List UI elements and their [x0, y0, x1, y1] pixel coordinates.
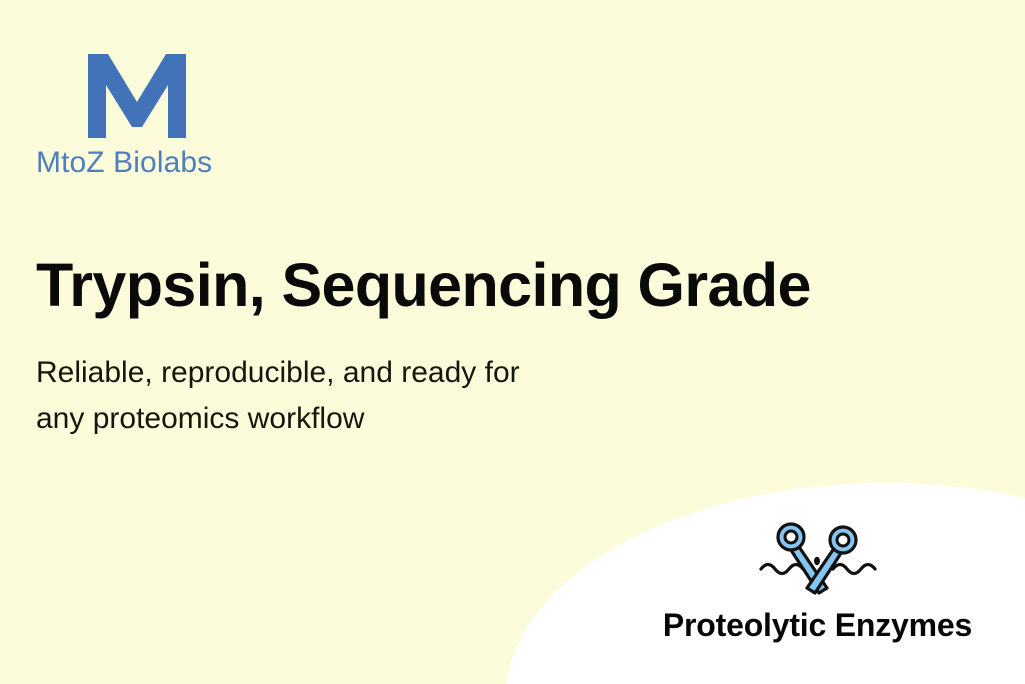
brand-logo[interactable]: MtoZ Biolabs — [36, 52, 336, 178]
page-subtitle-line-1: Reliable, reproducible, and ready for — [36, 350, 520, 396]
scissors-cutting-peptide-icon — [757, 520, 879, 596]
page-subtitle: Reliable, reproducible, and ready for an… — [36, 350, 520, 441]
category-badge: Proteolytic Enzymes — [640, 520, 995, 643]
page-title: Trypsin, Sequencing Grade — [36, 253, 811, 317]
page-subtitle-line-2: any proteomics workflow — [36, 396, 520, 442]
category-badge-label: Proteolytic Enzymes — [640, 608, 995, 643]
product-banner: MtoZ Biolabs Trypsin, Sequencing Grade R… — [0, 0, 1025, 684]
brand-wordmark: MtoZ Biolabs — [36, 148, 336, 178]
m-monogram-icon — [82, 52, 192, 140]
